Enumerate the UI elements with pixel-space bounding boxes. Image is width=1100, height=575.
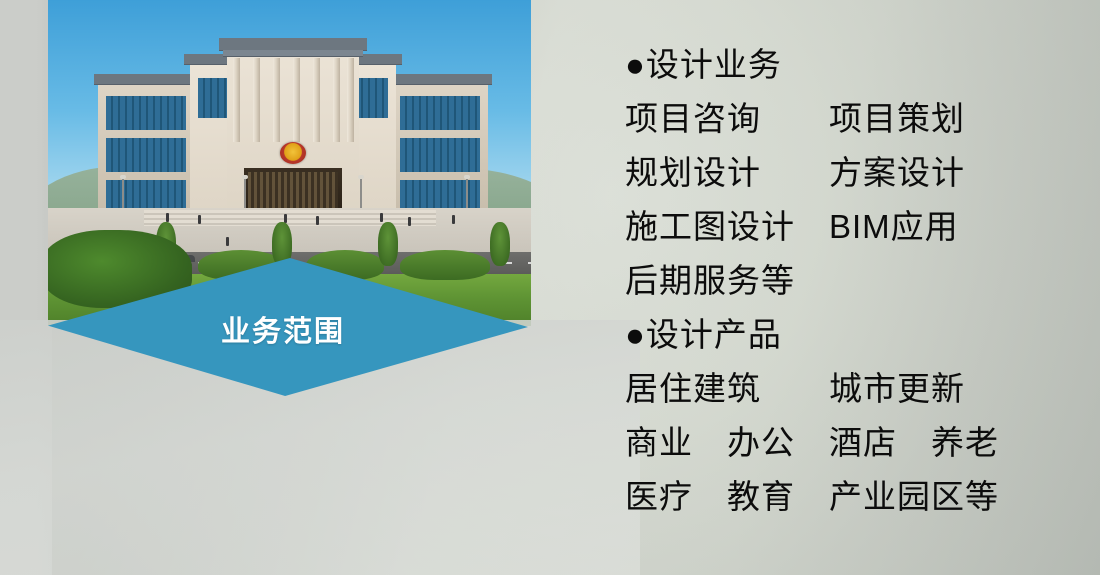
content-text-block: ●设计业务 项目咨询 项目策划 规划设计 方案设计 施工图设计 BIM应用 后期… xyxy=(625,38,1045,524)
slide-canvas: 业务范围 ●设计业务 项目咨询 项目策划 规划设计 方案设计 施工图设计 BIM… xyxy=(0,0,1100,575)
text-line-6: ●设计产品 xyxy=(625,308,1045,362)
text-line-8: 商业 办公 酒店 养老 xyxy=(625,416,1045,470)
text-line-4: 施工图设计 BIM应用 xyxy=(625,200,1045,254)
diamond-label: 业务范围 xyxy=(221,308,345,350)
text-line-3: 规划设计 方案设计 xyxy=(625,146,1045,200)
text-line-5: 后期服务等 xyxy=(625,254,1045,308)
national-emblem-icon xyxy=(280,142,306,164)
text-line-7: 居住建筑 城市更新 xyxy=(625,362,1045,416)
text-line-9: 医疗 教育 产业园区等 xyxy=(625,470,1045,524)
text-line-2: 项目咨询 项目策划 xyxy=(625,92,1045,146)
text-line-1: ●设计业务 xyxy=(625,38,1045,92)
